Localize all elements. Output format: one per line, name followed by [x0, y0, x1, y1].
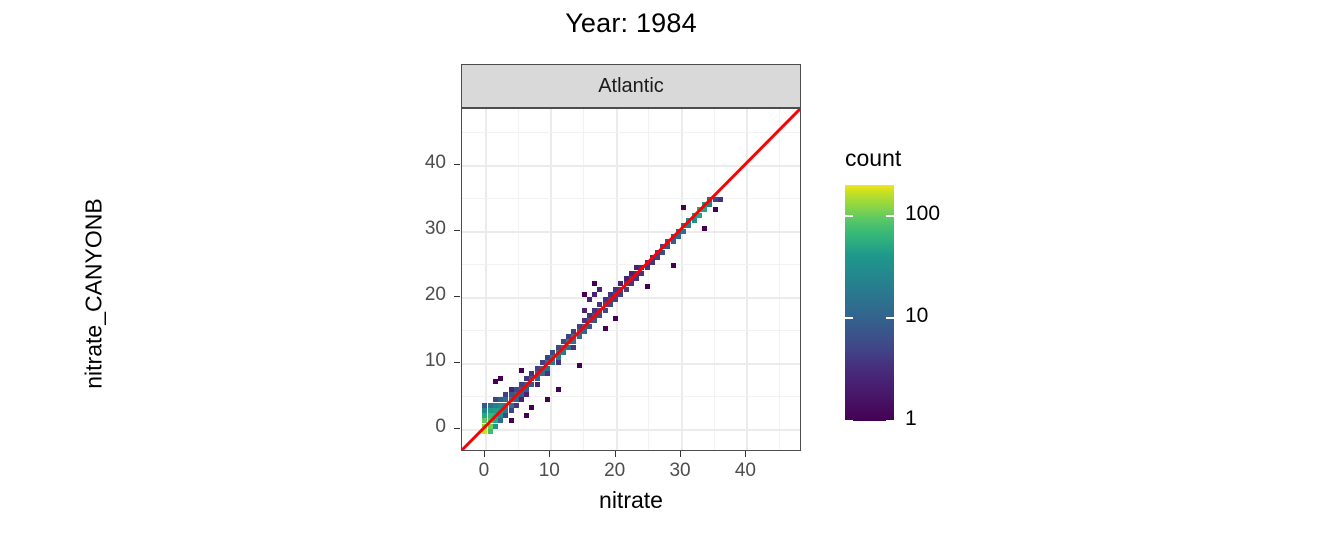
plot-panel [461, 108, 801, 451]
y-tick [454, 230, 460, 231]
page-title: Year: 1984 [461, 8, 801, 39]
legend-colorbar [845, 185, 894, 421]
legend-title: count [845, 145, 901, 172]
y-tick [454, 296, 460, 297]
legend-tick-mark [845, 420, 853, 422]
y-tick-label: 0 [400, 416, 446, 438]
legend: count 110100 [843, 140, 1023, 440]
y-tick [454, 362, 460, 363]
legend-tick-mark [886, 420, 894, 422]
x-tick-label: 30 [658, 460, 702, 482]
y-axis-title: nitrate_CANYONB [81, 124, 108, 464]
identity-reference-line [462, 109, 800, 450]
x-tick-label: 20 [593, 460, 637, 482]
legend-tick-mark [845, 215, 853, 217]
chart-figure: Year: 1984 Atlantic 010203040010203040 n… [0, 0, 1344, 537]
legend-tick-mark [886, 215, 894, 217]
facet-strip-label: Atlantic [598, 75, 664, 98]
y-tick [454, 428, 460, 429]
facet-strip: Atlantic [461, 64, 801, 108]
x-axis-title: nitrate [461, 487, 801, 514]
legend-tick-mark [886, 317, 894, 319]
y-tick-label: 20 [400, 284, 446, 306]
x-tick [484, 451, 485, 457]
x-tick-label: 10 [527, 460, 571, 482]
y-tick-label: 30 [400, 218, 446, 240]
legend-tick-mark [845, 317, 853, 319]
legend-tick-label: 1 [905, 407, 917, 431]
x-tick [680, 451, 681, 457]
legend-tick-label: 100 [905, 202, 940, 226]
y-tick-label: 10 [400, 350, 446, 372]
y-tick-label: 40 [400, 152, 446, 174]
x-tick [549, 451, 550, 457]
legend-tick-label: 10 [905, 304, 928, 328]
x-tick [615, 451, 616, 457]
x-tick-label: 40 [723, 460, 767, 482]
y-tick [454, 164, 460, 165]
x-tick-label: 0 [462, 460, 506, 482]
identity-line [462, 109, 800, 450]
x-tick [745, 451, 746, 457]
